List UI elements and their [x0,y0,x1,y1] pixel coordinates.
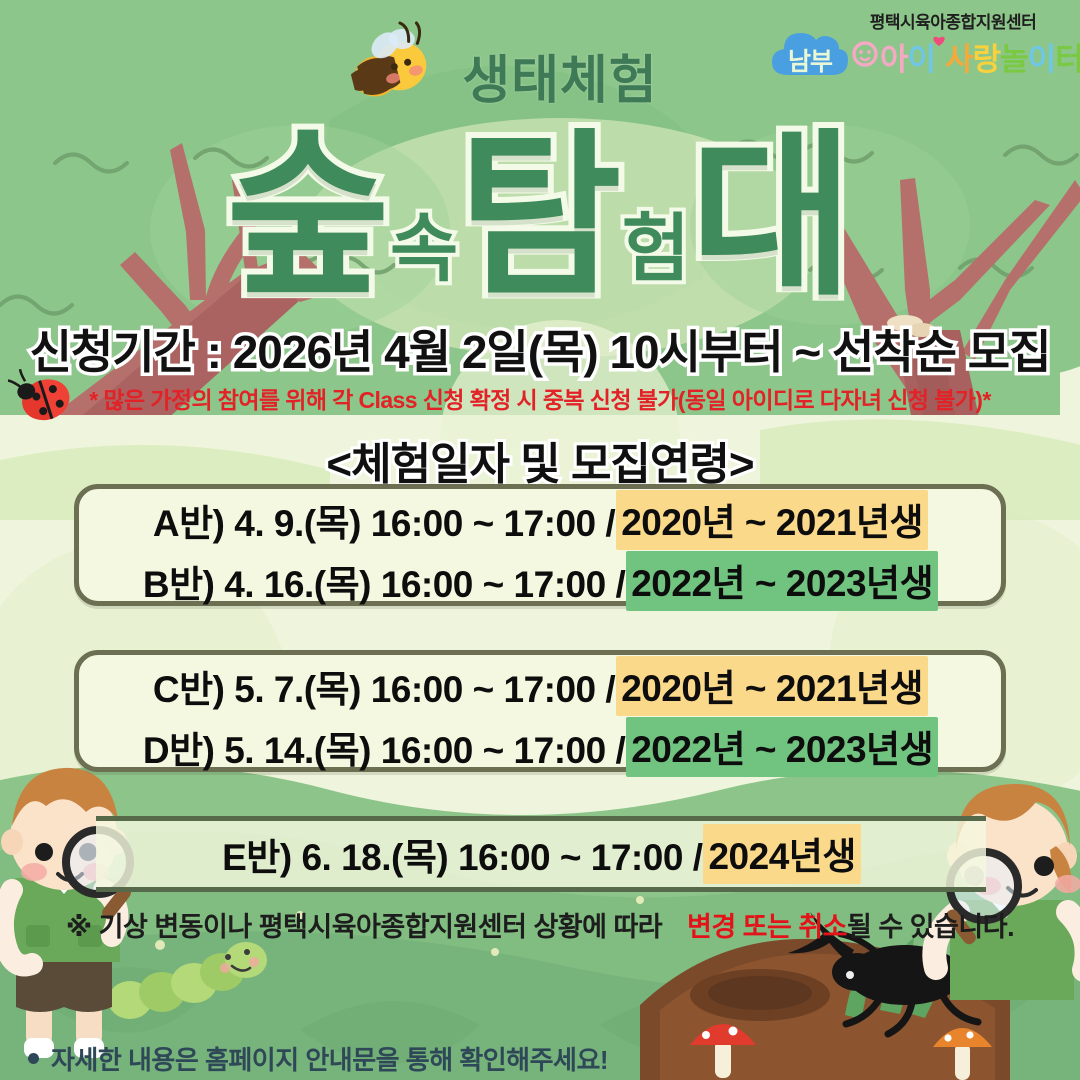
poster-root: 평택시육아종합지원센터 남부 아 이 [0,0,1080,1080]
schedule-banner-e: E반) 6. 18.(목) 16:00 ~ 17:00 / 2024년생 [96,816,986,892]
schedule-group-1: A반) 4. 9.(목) 16:00 ~ 17:00 / 2020년 ~ 202… [74,484,1006,606]
application-period: 신청기간 : 2026년 4월 2일(목) 10시부터 ~ 선착순 모집 [0,316,1080,382]
title-char-tam: 탐 [458,117,622,316]
schedule-row-e-label: E반) 6. 18.(목) 16:00 ~ 17:00 / [221,827,703,881]
schedule-row-e-ages: 2024년생 [703,824,860,884]
title-char-sok: 속 [390,207,458,290]
schedule-row-a-ages: 2020년 ~ 2021년생 [616,490,928,550]
schedule-row-c-label: C반) 5. 7.(목) 16:00 ~ 17:00 / [152,659,616,713]
page-title: 숲속탐험대 [0,128,1080,306]
duplicate-application-warning: * 많은 가정의 참여를 위해 각 Class 신청 확정 시 중복 신청 불가… [0,381,1080,415]
cancellation-note-suffix: 될 수 있습니다. [847,912,1014,942]
schedule-row-c: C반) 5. 7.(목) 16:00 ~ 17:00 / 2020년 ~ 202… [79,655,1001,716]
title-char-soop: 숲 [226,117,390,316]
schedule-row-b-label: B반) 4. 16.(목) 16:00 ~ 17:00 / [142,554,626,608]
title-char-heom: 험 [622,207,690,290]
schedule-group-2: C반) 5. 7.(목) 16:00 ~ 17:00 / 2020년 ~ 202… [74,650,1006,772]
schedule-row-d-label: D반) 5. 14.(목) 16:00 ~ 17:00 / [142,720,626,774]
footer-note-text: 자세한 내용은 홈페이지 안내문을 통해 확인해주세요! [51,1040,608,1077]
footer-note: 자세한 내용은 홈페이지 안내문을 통해 확인해주세요! [28,1040,608,1077]
schedule-row-d: D반) 5. 14.(목) 16:00 ~ 17:00 / 2022년 ~ 20… [79,716,1001,777]
cloud-label: 남부 [772,42,848,78]
schedule-row-b: B반) 4. 16.(목) 16:00 ~ 17:00 / 2022년 ~ 20… [79,550,1001,611]
schedule-row-d-ages: 2022년 ~ 2023년생 [626,717,938,777]
cancellation-note-highlight: 변경 또는 취소 [687,912,847,942]
eco-experience-label: 생태체험 [0,38,1080,113]
bullet-icon [28,1053,39,1064]
schedule-row-a: A반) 4. 9.(목) 16:00 ~ 17:00 / 2020년 ~ 202… [79,489,1001,550]
cancellation-note-prefix: ※ 기상 변동이나 평택시육아종합지원센터 상황에 따라ㅤ [66,912,687,942]
schedule-row-b-ages: 2022년 ~ 2023년생 [626,551,938,611]
schedule-row-a-label: A반) 4. 9.(목) 16:00 ~ 17:00 / [152,493,616,547]
schedule-row-e: E반) 6. 18.(목) 16:00 ~ 17:00 / 2024년생 [221,824,861,884]
title-char-dae: 대 [690,117,854,316]
cancellation-note: ※ 기상 변동이나 평택시육아종합지원센터 상황에 따라ㅤ변경 또는 취소될 수… [0,905,1080,944]
schedule-row-c-ages: 2020년 ~ 2021년생 [616,656,928,716]
schedule-section-heading: <체험일자 및 모집연령> [0,428,1080,492]
